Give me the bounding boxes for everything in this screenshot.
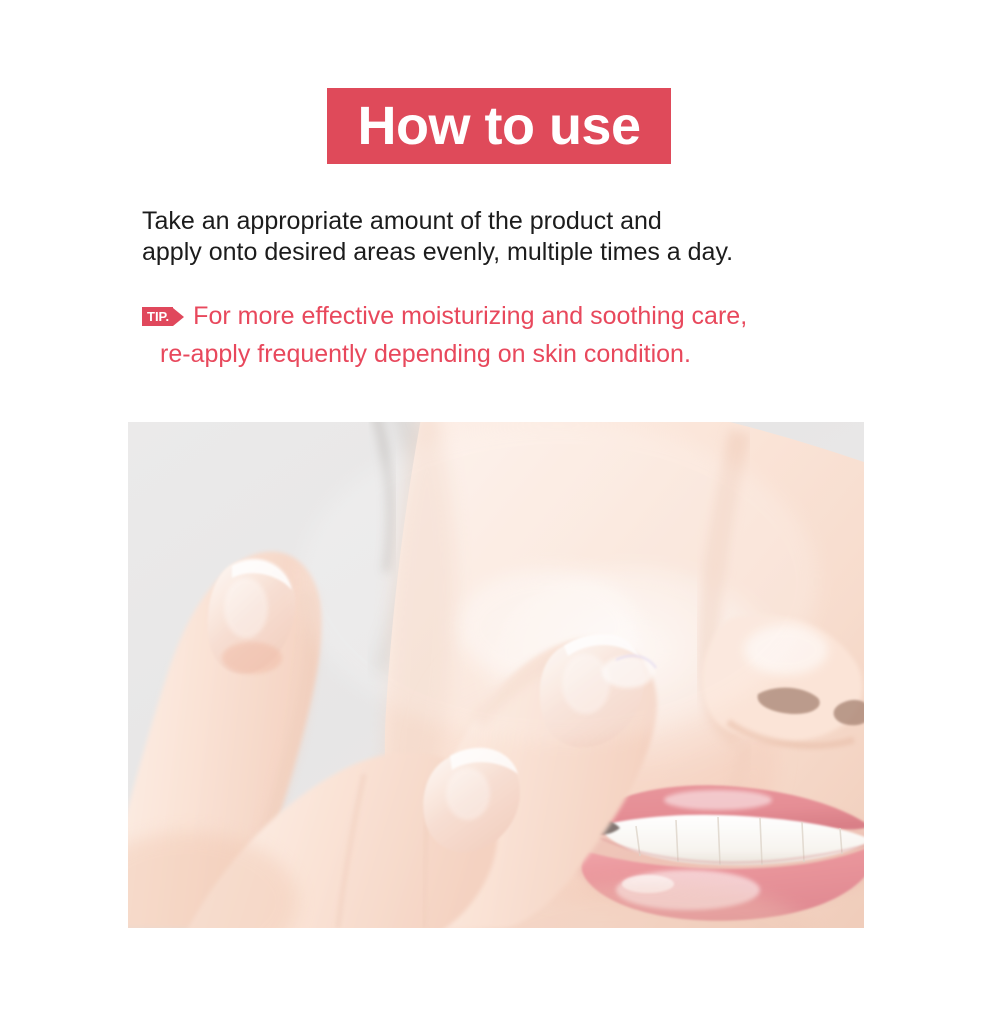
instruction-line-1: Take an appropriate amount of the produc… [142, 206, 882, 237]
tip-block: TIP. For more effective moisturizing and… [142, 301, 882, 370]
tip-line-1: For more effective moisturizing and soot… [193, 301, 747, 332]
tip-badge: TIP. [142, 307, 184, 326]
page-root: How to use Take an appropriate amount of… [0, 0, 992, 1015]
how-to-use-photo [128, 422, 864, 928]
photo-illustration [128, 422, 864, 928]
tip-badge-label: TIP. [142, 307, 173, 326]
header-banner: How to use [327, 88, 671, 164]
instruction-line-2: apply onto desired areas evenly, multipl… [142, 237, 882, 268]
tip-first-row: TIP. For more effective moisturizing and… [142, 301, 882, 332]
instruction-block: Take an appropriate amount of the produc… [142, 206, 882, 268]
tip-line-2: re-apply frequently depending on skin co… [160, 339, 882, 370]
tip-arrow-icon [173, 308, 184, 326]
page-title: How to use [357, 99, 640, 153]
